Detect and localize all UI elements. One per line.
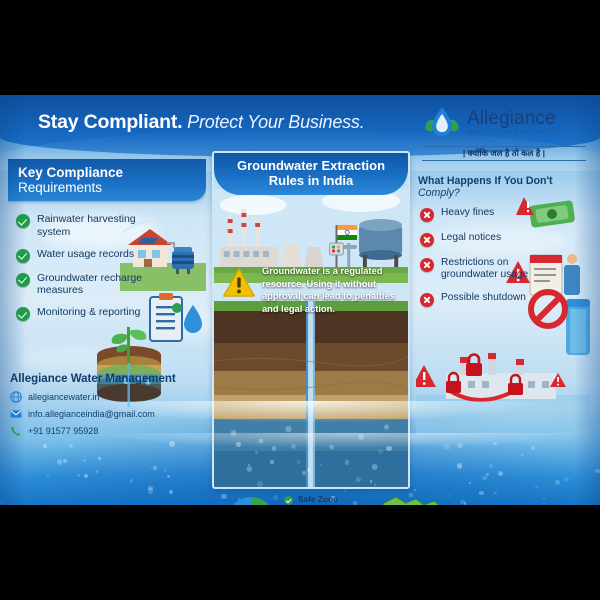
list-item: Legal notices xyxy=(420,232,592,247)
list-item: Restrictions on groundwater usage xyxy=(420,257,592,282)
contact-phone: +91 91577 95928 xyxy=(28,426,98,436)
zone-legend: Safe Zone Semi-Critical Zone Critical Zo… xyxy=(226,493,376,505)
list-item: Monitoring & reporting xyxy=(16,306,198,321)
zone-label: Safe Zone xyxy=(298,495,338,505)
india-groundwater-map xyxy=(362,487,474,505)
envelope-icon xyxy=(10,408,22,420)
compliance-item-label: Rainwater harvesting system xyxy=(37,213,155,239)
check-circle-icon xyxy=(16,273,30,287)
groundwater-rules-panel: Groundwater Extraction Rules in India Gr… xyxy=(212,151,410,489)
noncompliance-item-label: Possible shutdown xyxy=(441,292,526,304)
bubble xyxy=(1,502,3,504)
contact-email: info.allegianceindia@gmail.com xyxy=(28,409,155,419)
bubble xyxy=(344,490,346,492)
center-panel-title-line2: Rules in India xyxy=(224,174,398,189)
list-item: Possible shutdown xyxy=(420,292,592,307)
contact-block: Allegiance Water Management allegiancewa… xyxy=(10,373,210,442)
bubble xyxy=(148,488,153,493)
warning-callout: Groundwater is a regulated resource. Usi… xyxy=(222,265,404,315)
warning-triangle-icon xyxy=(222,267,256,298)
infographic-poster: Stay Compliant. Protect Your Business. A… xyxy=(0,95,600,505)
compliance-item-label: Monitoring & reporting xyxy=(37,306,140,319)
page-title: Stay Compliant. Protect Your Business. xyxy=(38,111,365,134)
check-circle-icon xyxy=(16,214,30,228)
contact-email-row[interactable]: info.allegianceindia@gmail.com xyxy=(10,408,210,420)
noncompliance-item-label: Heavy fines xyxy=(441,207,494,219)
left-panel-header: Key Compliance Requirements xyxy=(8,159,206,201)
zone-wheel-segment xyxy=(232,497,251,505)
x-circle-icon xyxy=(420,258,434,272)
bubble xyxy=(543,498,544,499)
locked-facility-illustration xyxy=(416,325,590,435)
list-item: Rainwater harvesting system xyxy=(16,213,198,239)
zone-wheel-chart xyxy=(226,496,276,505)
soil-cross-section-illustration xyxy=(214,301,408,489)
left-panel-title-bold: Key Compliance xyxy=(18,165,123,180)
check-circle-icon xyxy=(16,249,30,263)
left-panel-title-light: Requirements xyxy=(18,180,102,195)
zone-legend-list: Safe Zone Semi-Critical Zone Critical Zo… xyxy=(284,493,376,505)
warning-text: Groundwater is a regulated resource. Usi… xyxy=(262,265,404,315)
headline-bold: Stay Compliant. xyxy=(38,111,182,133)
noncompliance-list: Heavy fines Legal notices Restrictions o… xyxy=(416,207,592,307)
contact-company-name: Allegiance Water Management xyxy=(10,373,210,385)
x-circle-icon xyxy=(420,208,434,222)
x-circle-icon xyxy=(420,233,434,247)
contact-phone-row[interactable]: +91 91577 95928 xyxy=(10,425,210,437)
compliance-checklist: Rainwater harvesting system Water usage … xyxy=(8,201,206,321)
bubble xyxy=(595,469,600,474)
brand-logo: Allegiance WATER MANAGEMENT | क्योंकि जल… xyxy=(422,103,586,161)
contact-website: allegiancewater.in xyxy=(28,392,100,402)
noncompliance-item-label: Legal notices xyxy=(441,232,501,244)
logo-name: Allegiance xyxy=(467,109,563,128)
zone-wheel-segment xyxy=(251,497,270,505)
non-compliance-panel: What Happens If You Don't Comply? xyxy=(416,175,592,489)
check-circle-icon xyxy=(284,496,293,505)
globe-icon xyxy=(10,391,22,403)
list-item: Safe Zone xyxy=(284,495,376,505)
list-item: Heavy fines xyxy=(420,207,592,222)
logo-hindi-tagline: | क्योंकि जल है तो कल है | xyxy=(422,146,586,161)
list-item: Groundwater recharge measures xyxy=(16,272,198,298)
phone-icon xyxy=(10,425,22,437)
noncompliance-item-label: Restrictions on groundwater usage xyxy=(441,257,557,282)
contact-website-row[interactable]: allegiancewater.in xyxy=(10,391,210,403)
check-circle-icon xyxy=(16,307,30,321)
center-panel-title-line1: Groundwater Extraction xyxy=(224,159,398,174)
bubble xyxy=(494,492,497,495)
bubble xyxy=(479,491,483,495)
logo-drop-leaf-icon xyxy=(422,103,462,143)
headline-italic: Protect Your Business. xyxy=(182,112,364,132)
bubble xyxy=(169,490,173,494)
center-panel-header: Groundwater Extraction Rules in India xyxy=(214,153,408,195)
compliance-item-label: Water usage records xyxy=(37,248,134,261)
right-panel-title: What Happens If You Don't xyxy=(418,175,553,187)
logo-tagline: WATER MANAGEMENT xyxy=(467,130,563,137)
right-panel-title-italic: Comply? xyxy=(418,187,460,199)
list-item: Water usage records xyxy=(16,248,198,263)
x-circle-icon xyxy=(420,293,434,307)
compliance-item-label: Groundwater recharge measures xyxy=(37,272,155,298)
